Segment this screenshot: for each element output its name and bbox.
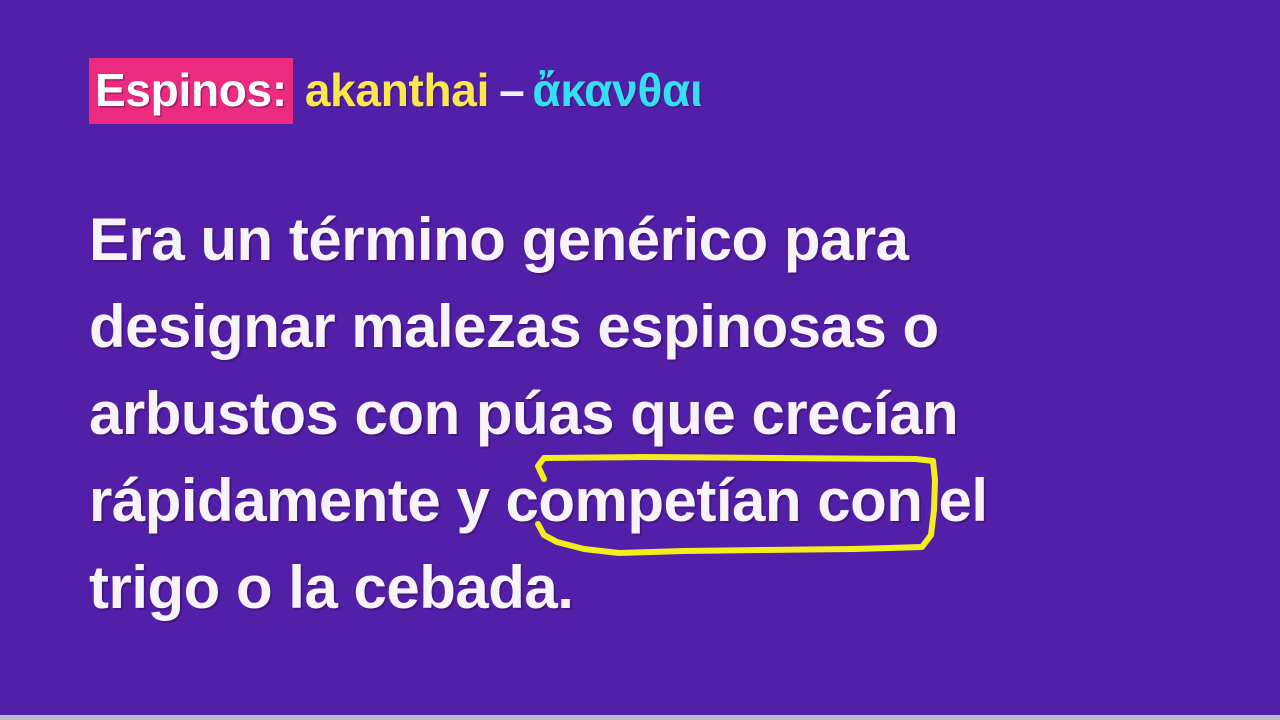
title-greek-word: ἄκανθαι — [532, 64, 702, 116]
title-term-highlight: Espinos: — [89, 58, 293, 124]
slide-title: Espinos:akanthai–ἄκανθαι — [89, 58, 702, 124]
body-line: Era un término genérico para — [89, 196, 1149, 283]
body-paragraph: Era un término genérico para designar ma… — [89, 196, 1149, 631]
body-line: arbustos con púas que crecían — [89, 370, 1149, 457]
body-line: designar malezas espinosas o — [89, 283, 1149, 370]
body-line: rápidamente y competían con el — [89, 457, 1149, 544]
title-separator-dash: – — [499, 64, 524, 116]
bottom-edge-strip — [0, 715, 1280, 720]
title-transliteration: akanthai — [305, 64, 489, 116]
slide-canvas: Espinos:akanthai–ἄκανθαι Era un término … — [0, 0, 1280, 715]
body-line: trigo o la cebada. — [89, 544, 1149, 631]
